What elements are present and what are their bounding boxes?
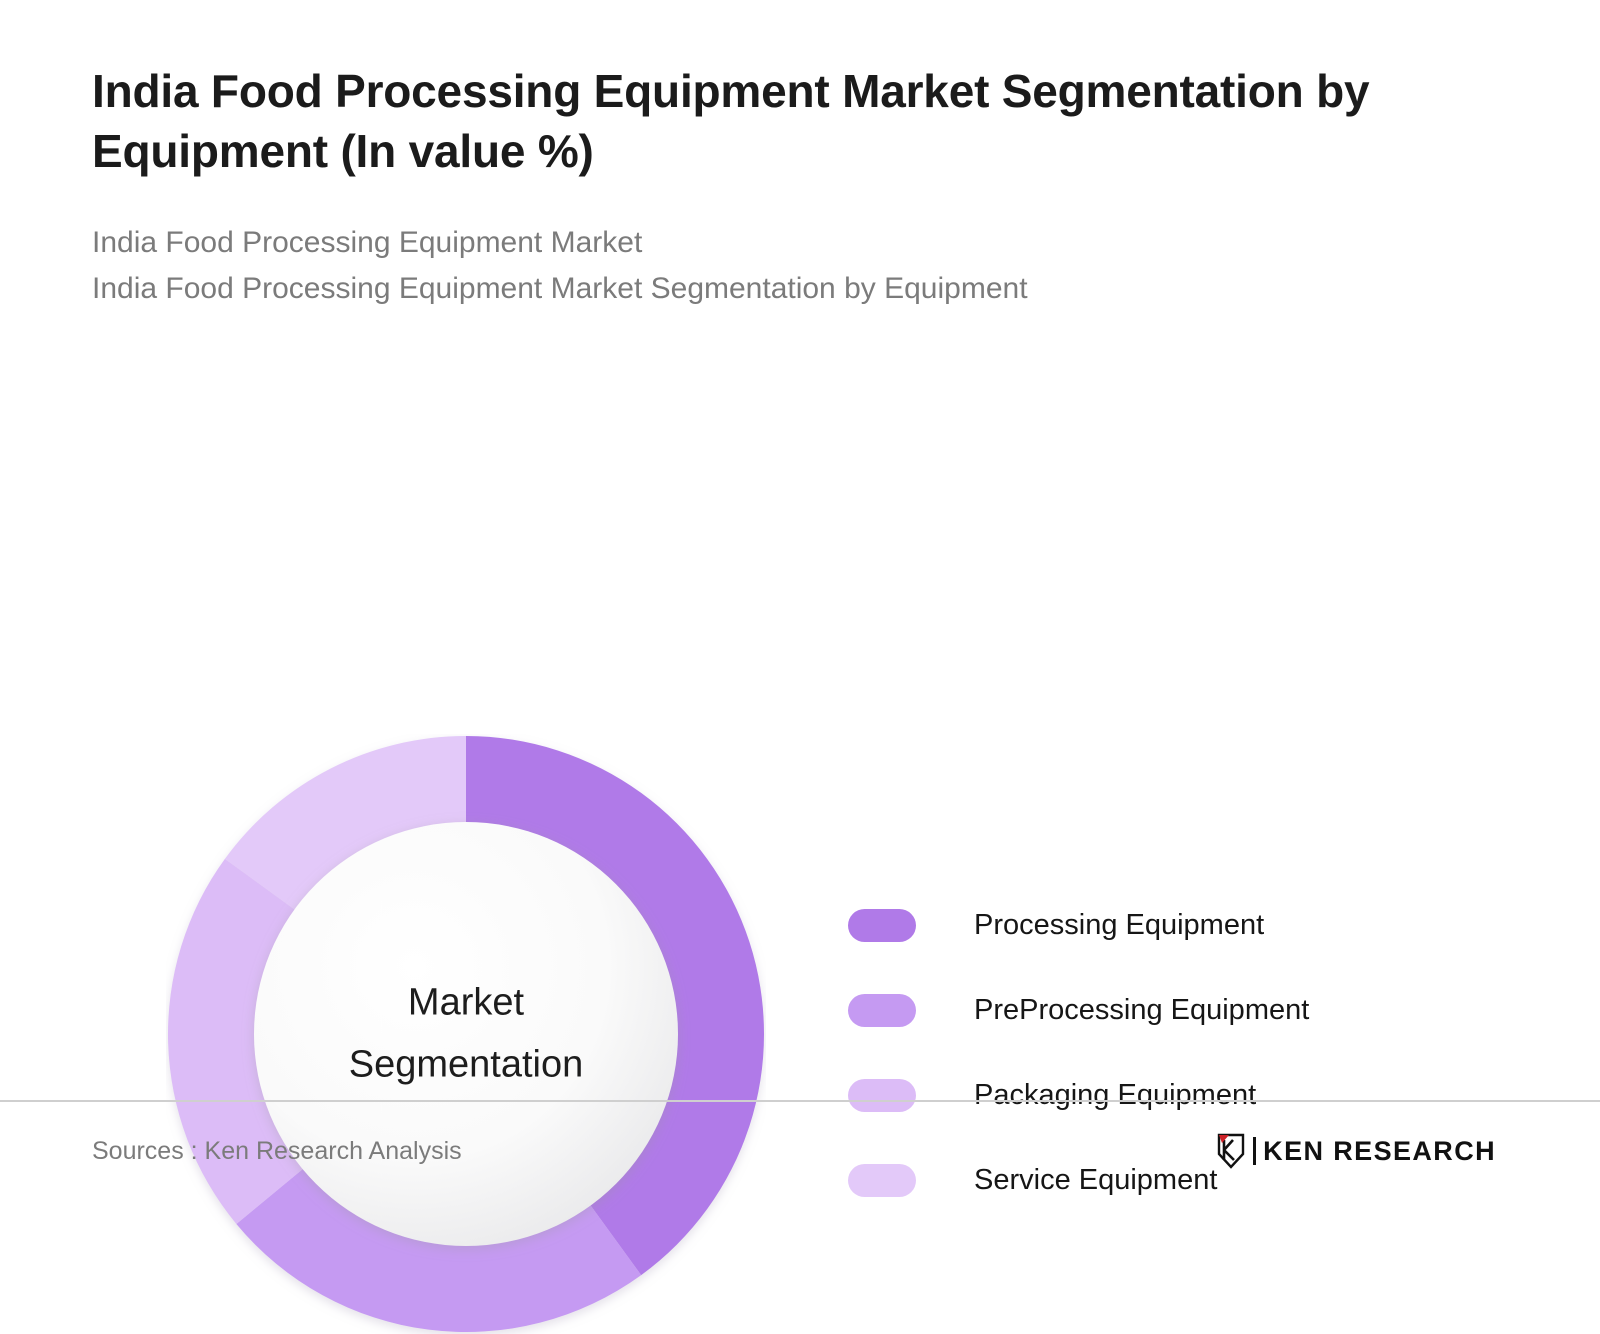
legend-swatch — [848, 994, 916, 1027]
subtitle-block: India Food Processing Equipment Market I… — [92, 220, 1500, 313]
brand-separator — [1253, 1137, 1256, 1165]
brand-name: KEN RESEARCH — [1263, 1136, 1496, 1167]
legend-swatch — [848, 909, 916, 942]
footer: Sources : Ken Research Analysis KEN RESE… — [0, 1102, 1600, 1200]
source-note: Sources : Ken Research Analysis — [92, 1137, 462, 1166]
legend-item[interactable]: Processing Equipment — [848, 883, 1488, 968]
legend-label: Processing Equipment — [974, 909, 1264, 942]
ken-research-shield-icon — [1216, 1133, 1246, 1169]
subtitle-line-2: India Food Processing Equipment Market S… — [92, 266, 1500, 313]
header: India Food Processing Equipment Market S… — [0, 0, 1600, 313]
chart-area: Market Segmentation Processing Equipment… — [0, 313, 1600, 1200]
donut-chart: Market Segmentation — [166, 734, 766, 1334]
page-title: India Food Processing Equipment Market S… — [92, 62, 1492, 182]
slide-root: India Food Processing Equipment Market S… — [0, 0, 1600, 1200]
brand-logo: KEN RESEARCH — [1216, 1133, 1496, 1169]
legend-item[interactable]: PreProcessing Equipment — [848, 968, 1488, 1053]
donut-chart-svg — [166, 734, 766, 1334]
subtitle-line-1: India Food Processing Equipment Market — [92, 220, 1500, 267]
legend-label: PreProcessing Equipment — [974, 994, 1309, 1027]
